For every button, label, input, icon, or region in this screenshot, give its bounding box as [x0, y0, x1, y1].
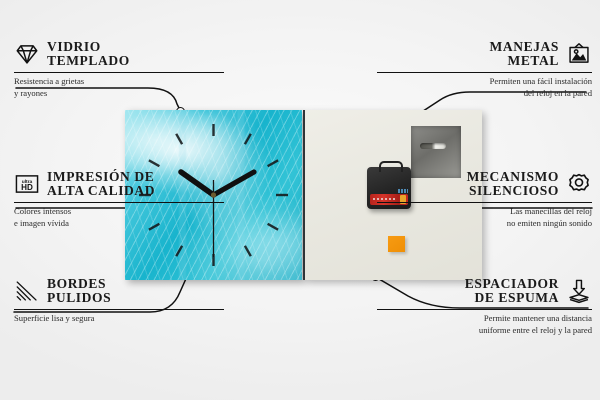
callout-description: Permite mantener una distancia uniforme … — [377, 313, 592, 336]
callout-divider — [14, 202, 224, 204]
callout-divider — [377, 309, 592, 311]
gear-icon — [566, 171, 592, 197]
picture-frame-hanger-icon — [566, 41, 592, 67]
callout-title-line1: VIDRIO — [47, 40, 130, 54]
callout-title-line1: BORDES — [47, 277, 111, 291]
diamond-icon — [14, 41, 40, 67]
callout-polished-edges: BORDES PULIDOS Superficie lisa y segura — [14, 277, 224, 325]
callout-title-line2: DE ESPUMA — [465, 291, 559, 305]
callout-metal-hangers: MANEJAS METAL Permiten una fácil instala… — [377, 40, 592, 99]
foam-spacer-arrow-icon — [566, 278, 592, 304]
callout-divider — [14, 309, 224, 311]
callout-hd-print: ultra HD IMPRESIÓN DE ALTA CALIDAD Color… — [14, 170, 224, 229]
callout-title-line2: ALTA CALIDAD — [47, 184, 155, 198]
foam-spacer-pad — [388, 236, 405, 252]
callout-foam-spacer: ESPACIADOR DE ESPUMA Permite mantener un… — [377, 277, 592, 336]
callout-tempered-glass: VIDRIO TEMPLADO Resistencia a grietas y … — [14, 40, 224, 99]
hanger-slot — [420, 143, 446, 149]
callout-divider — [377, 202, 592, 204]
ultra-hd-icon: ultra HD — [14, 171, 40, 197]
callout-title-line1: MECANISMO — [467, 170, 559, 184]
callout-title-line1: MANEJAS — [490, 40, 559, 54]
ultra-hd-icon-bottom: HD — [21, 183, 33, 192]
callout-title-line2: SILENCIOSO — [467, 184, 559, 198]
polished-edge-icon — [14, 278, 40, 304]
callout-description: Resistencia a grietas y rayones — [14, 76, 224, 99]
callout-description: Colores intensos e imagen vívida — [14, 206, 224, 229]
infographic-canvas: VIDRIO TEMPLADO Resistencia a grietas y … — [0, 0, 600, 400]
callout-title-line1: ESPACIADOR — [465, 277, 559, 291]
callout-silent-mechanism: MECANISMO SILENCIOSO Las manecillas del … — [377, 170, 592, 229]
callout-description: Superficie lisa y segura — [14, 313, 224, 324]
callout-description: Las manecillas del reloj no emiten ningú… — [377, 206, 592, 229]
callout-description: Permiten una fácil instalación del reloj… — [377, 76, 592, 99]
callout-title-line1: IMPRESIÓN DE — [47, 170, 155, 184]
callout-title-line2: METAL — [490, 54, 559, 68]
callout-divider — [377, 72, 592, 74]
callout-title-line2: TEMPLADO — [47, 54, 130, 68]
callout-divider — [14, 72, 224, 74]
callout-title-line2: PULIDOS — [47, 291, 111, 305]
